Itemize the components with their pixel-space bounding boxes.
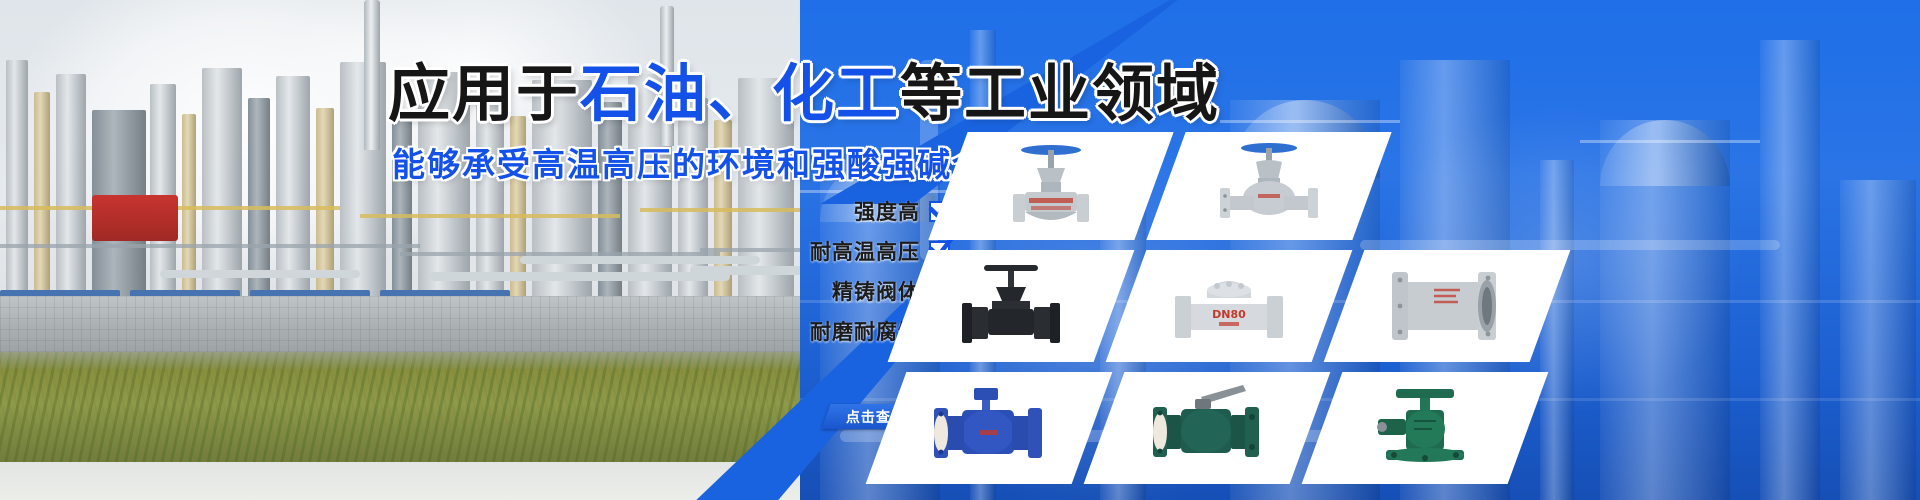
product-showcase-grid: DN80 [890,132,1730,492]
flanged-globe-valve-green-icon [1362,381,1488,475]
product-card[interactable] [1084,372,1331,484]
globe-valve-flanged-icon [1208,138,1330,234]
swing-check-valve-icon: DN80 [1163,260,1295,352]
product-card[interactable]: DN80 [1106,250,1353,362]
flanged-spool-valve-icon [1382,264,1512,348]
red-building [92,195,178,241]
lined-ball-valve-blue-icon [922,382,1056,474]
product-card[interactable] [888,250,1135,362]
headline-highlight: 石油、化工 [580,60,900,129]
lever-ball-valve-green-icon [1139,381,1275,475]
product-card[interactable] [1302,372,1549,484]
gate-valve-flanged-icon [991,138,1111,234]
product-card[interactable] [1324,250,1571,362]
product-card[interactable] [928,132,1173,240]
product-card[interactable] [1146,132,1391,240]
headline-prefix: 应用于 [388,60,580,129]
page-title: 应用于石油、化工等工业领域 [388,62,1108,128]
headline-suffix: 等工业领域 [900,60,1220,129]
product-card[interactable] [866,372,1113,484]
promo-banner: 应用于石油、化工等工业领域 能够承受高温高压的环境和强酸强碱介质 强度高 耐高温… [0,0,1920,500]
valve-label: DN80 [1212,308,1246,321]
forged-steel-gate-valve-icon [948,257,1074,355]
